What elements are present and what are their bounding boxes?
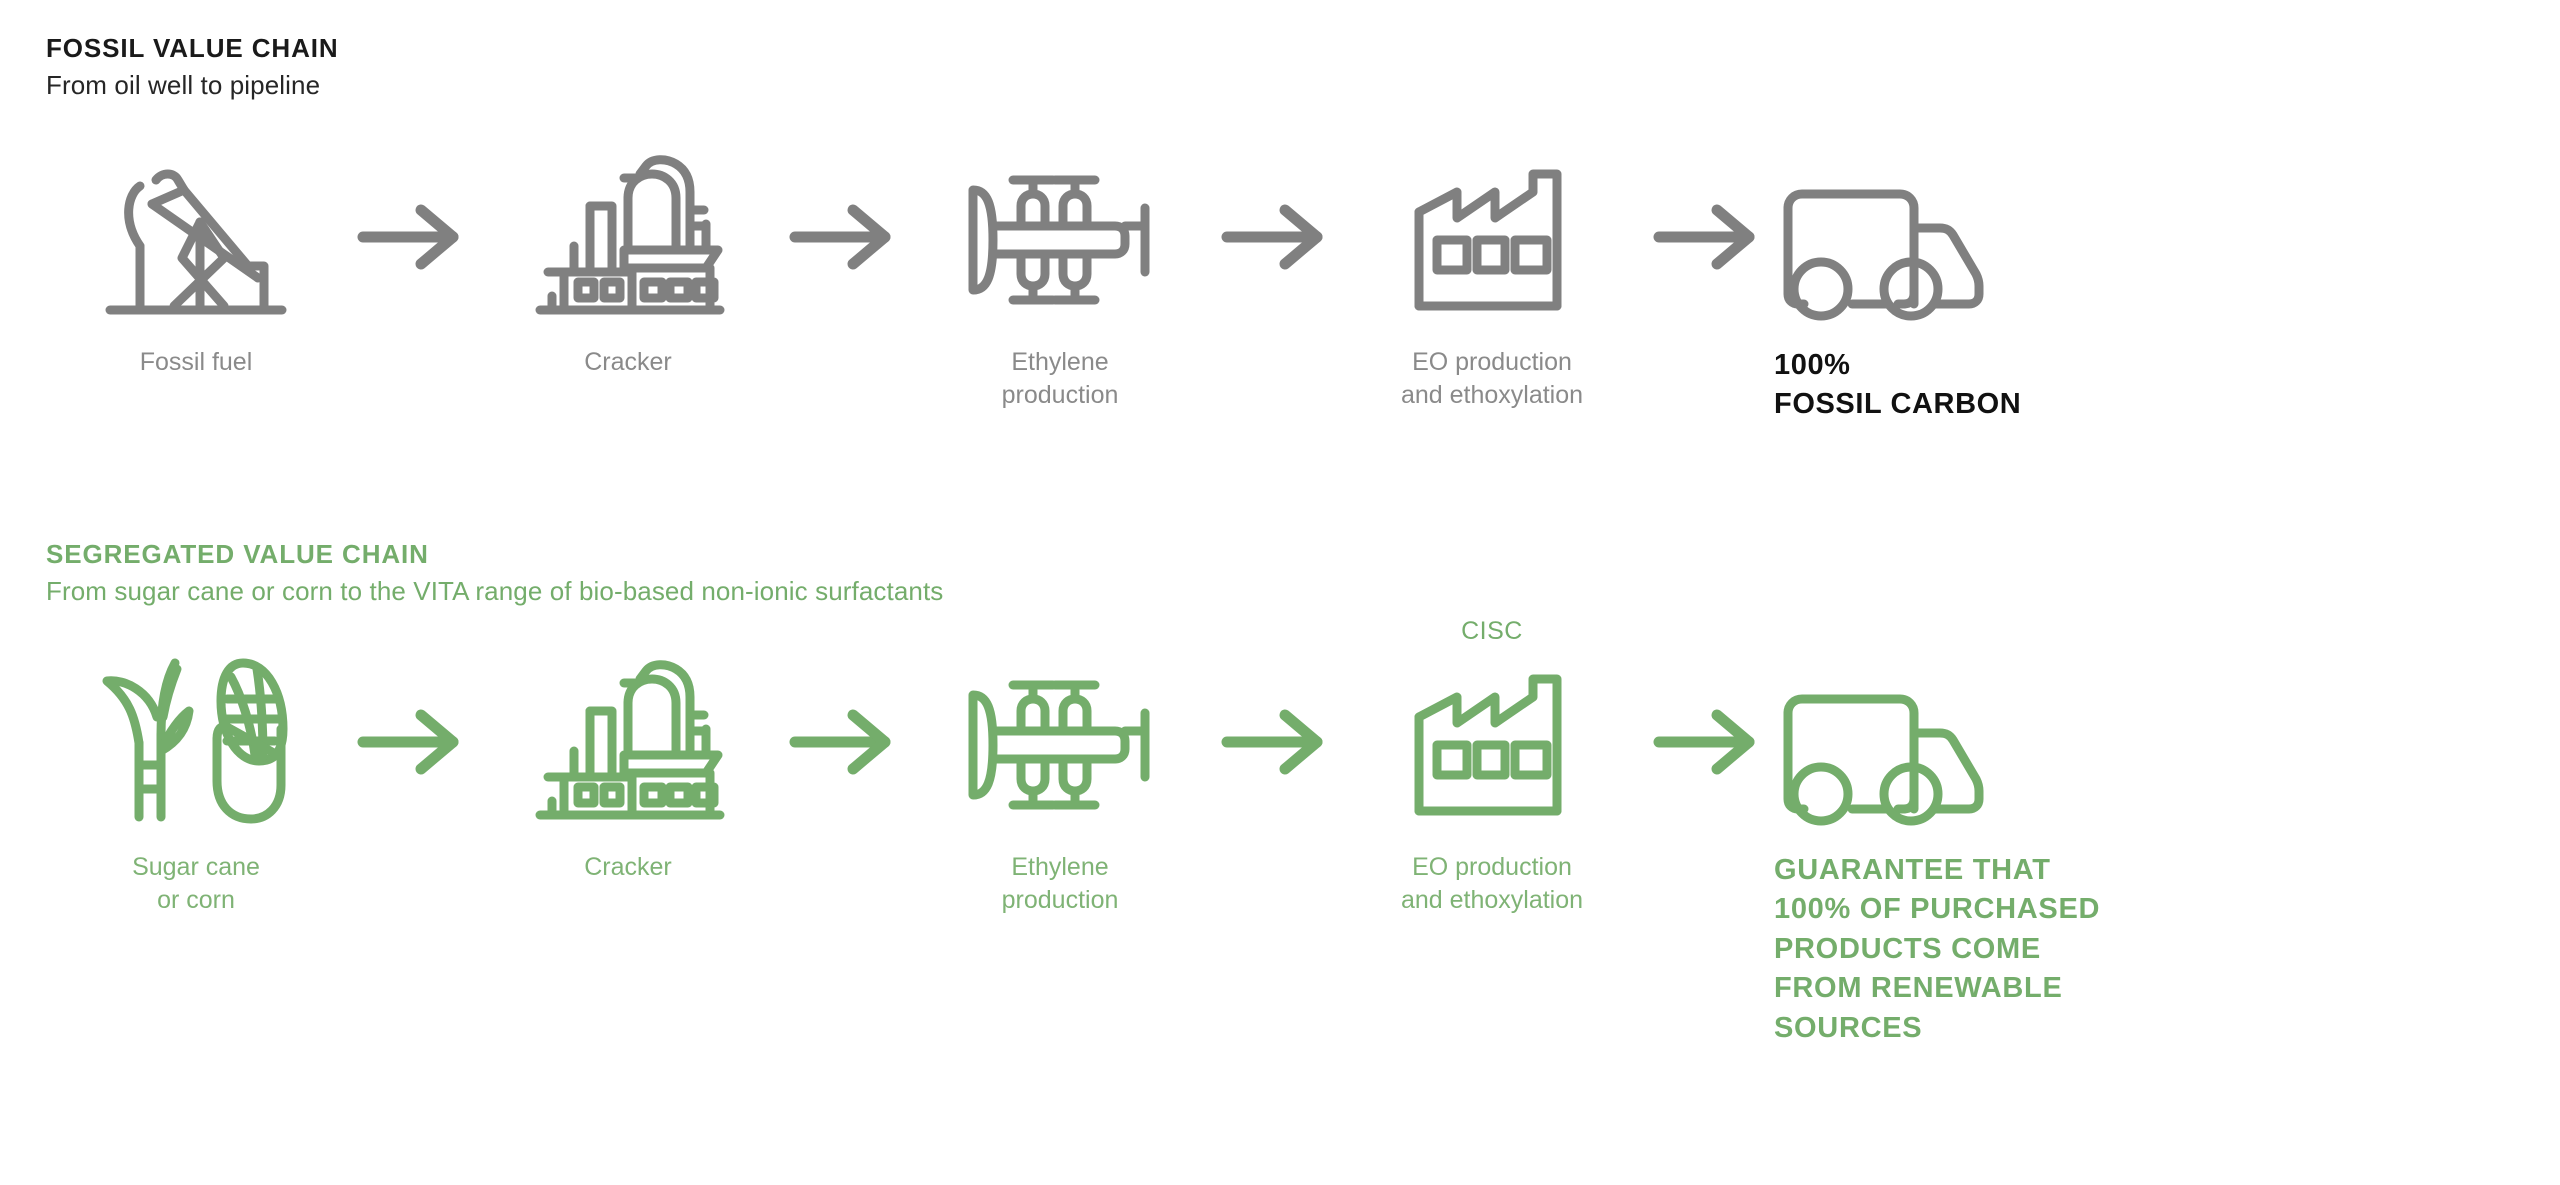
stage-label: Cracker xyxy=(584,346,672,379)
cracker-refinery-icon xyxy=(528,150,728,320)
fossil-section-heading: FOSSIL VALUE CHAIN From oil well to pipe… xyxy=(46,34,339,101)
segregated-section-heading: SEGREGATED VALUE CHAIN From sugar cane o… xyxy=(46,540,943,607)
arrow-right-icon xyxy=(1642,150,1774,272)
oil-pump-jack-icon xyxy=(96,150,296,320)
fossil-section-title: FOSSIL VALUE CHAIN xyxy=(46,34,339,64)
arrow-right-icon xyxy=(1210,655,1342,777)
stage-label: Fossil fuel xyxy=(140,346,253,379)
stage-label: EO production and ethoxylation xyxy=(1401,346,1583,412)
segregated-result-block: GUARANTEE THAT 100% OF PURCHASED PRODUCT… xyxy=(1774,655,2244,1048)
segregated-result-text: GUARANTEE THAT 100% OF PURCHASED PRODUCT… xyxy=(1774,851,2100,1048)
delivery-truck-icon xyxy=(1774,655,2244,825)
stage-label: Sugar cane or corn xyxy=(132,851,260,917)
stage-eo-production: CISC EO production and ethoxylation xyxy=(1342,655,1642,917)
segregated-section-subtitle: From sugar cane or corn to the VITA rang… xyxy=(46,576,943,607)
stage-label: Ethylene production xyxy=(1002,346,1119,412)
stage-label: Cracker xyxy=(584,851,672,884)
segregated-section-title: SEGREGATED VALUE CHAIN xyxy=(46,540,943,570)
fossil-section-subtitle: From oil well to pipeline xyxy=(46,70,339,101)
stage-fossil-fuel: Fossil fuel xyxy=(46,150,346,379)
stage-cracker: Cracker xyxy=(478,655,778,884)
stage-ethylene-production: Ethylene production xyxy=(910,655,1210,917)
cisc-badge: CISC xyxy=(1461,617,1523,646)
ethylene-reactor-icon xyxy=(955,655,1165,825)
infographic-canvas: FOSSIL VALUE CHAIN From oil well to pipe… xyxy=(0,0,2560,1185)
fossil-value-chain-row: Fossil fuel xyxy=(46,150,2516,423)
stage-label: Ethylene production xyxy=(1002,851,1119,917)
arrow-right-icon xyxy=(778,150,910,272)
factory-icon: CISC xyxy=(1405,655,1580,825)
stage-eo-production: EO production and ethoxylation xyxy=(1342,150,1642,412)
stage-cracker: Cracker xyxy=(478,150,778,379)
arrow-right-icon xyxy=(1210,150,1342,272)
factory-icon xyxy=(1405,150,1580,320)
stage-ethylene-production: Ethylene production xyxy=(910,150,1210,412)
fossil-result-text: 100% FOSSIL CARBON xyxy=(1774,346,2021,423)
delivery-truck-icon xyxy=(1774,150,2244,320)
arrow-right-icon xyxy=(778,655,910,777)
arrow-right-icon xyxy=(1642,655,1774,777)
stage-label: EO production and ethoxylation xyxy=(1401,851,1583,917)
arrow-right-icon xyxy=(346,655,478,777)
arrow-right-icon xyxy=(346,150,478,272)
fossil-result-block: 100% FOSSIL CARBON xyxy=(1774,150,2244,423)
stage-sugar-cane-or-corn: Sugar cane or corn xyxy=(46,655,346,917)
sugarcane-corn-icon xyxy=(91,655,301,825)
ethylene-reactor-icon xyxy=(955,150,1165,320)
cracker-refinery-icon xyxy=(528,655,728,825)
segregated-value-chain-row: Sugar cane or corn xyxy=(46,655,2516,1048)
